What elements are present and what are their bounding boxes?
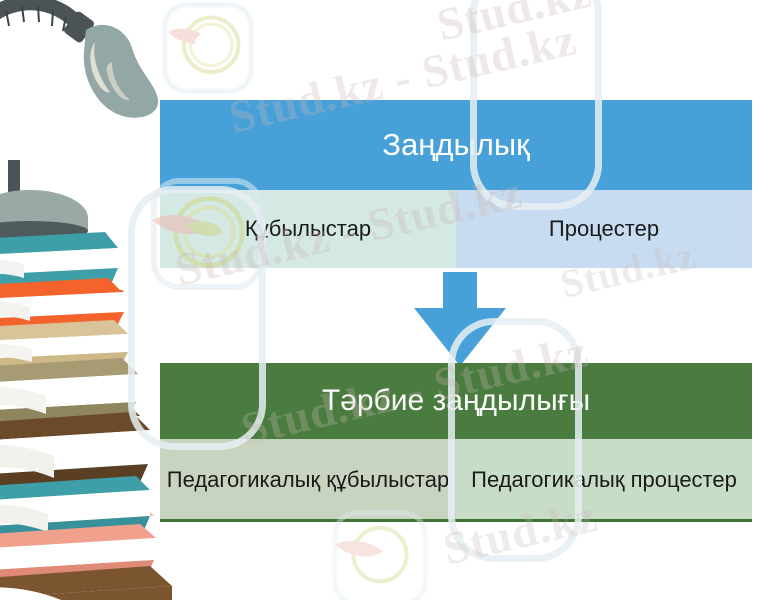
bottom-card-title: Тәрбие заңдылығы: [160, 363, 752, 439]
bottom-card-tarbie-zandylygy: Тәрбие заңдылығы Педагогикалық құбылыста…: [160, 363, 752, 522]
down-arrow-icon: [414, 272, 506, 366]
desk-lamp-icon: [0, 3, 158, 118]
top-card-cell-procester: Процестер: [456, 190, 752, 268]
lamp-base: [0, 160, 88, 246]
slide-canvas: Stud.kz Stud.kz - Stud.kz Stud.kz - Stud…: [0, 0, 757, 600]
book-stack-lower: [0, 290, 175, 600]
top-card-zandylyk: Заңдылық Құбылыстар Процестер: [160, 100, 752, 268]
bottom-card-cell-pedagogikalyk-kubylystar: Педагогикалық құбылыстар: [160, 439, 456, 522]
top-card-cell-kubylystar: Құбылыстар: [160, 190, 456, 268]
bottom-card-cell-pedagogikalyk-procester: Педагогикалық процестер: [456, 439, 752, 522]
top-card-title: Заңдылық: [160, 100, 752, 190]
bottom-card-underline: [160, 519, 752, 522]
top-card-body: Құбылыстар Процестер: [160, 190, 752, 268]
bottom-card-body: Педагогикалық құбылыстар Педагогикалық п…: [160, 439, 752, 522]
